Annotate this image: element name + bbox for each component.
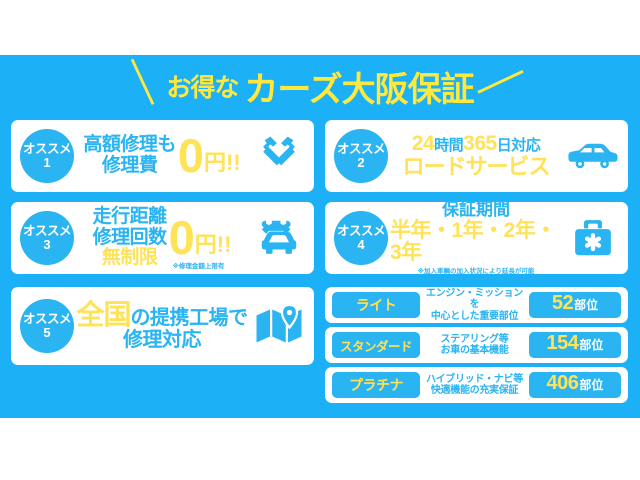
feature-card-3[interactable]: オススメ 3 走行距離 修理回数 無制限 0 円!! ※修理金額上限有 bbox=[11, 202, 314, 274]
crossed-hammers-icon bbox=[250, 133, 308, 179]
plan-count-unit: 部位 bbox=[579, 336, 603, 353]
feature-card-5[interactable]: オススメ 5 全国の提携工場で 修理対応 bbox=[11, 287, 314, 365]
feature-card-1-body: 高額修理も 修理費 0 円!! bbox=[74, 120, 250, 192]
feature-card-4-text: 保証期間 半年・1年・2年・3年 ※加入車輌の加入状況により延長が可能 bbox=[390, 201, 562, 275]
right-slash-decor: ／ bbox=[475, 60, 524, 109]
road-service-label: ロードサービス bbox=[402, 155, 549, 179]
hours-unit: 時間 bbox=[434, 137, 463, 154]
plan-row-light[interactable]: ライト エンジン・ミッションを 中心とした重要部位 52 部位 bbox=[325, 287, 628, 323]
advertisement-canvas: ＼ お得な カーズ大阪保証 ／ オススメ 1 高額修理も 修理費 0 円!! bbox=[0, 0, 640, 480]
headline-main: カーズ大阪保証 bbox=[244, 62, 473, 111]
badge-number: 2 bbox=[357, 156, 364, 169]
toolbox-icon bbox=[564, 217, 622, 259]
plan-count-number: 154 bbox=[547, 332, 579, 355]
days-number: 365 bbox=[463, 132, 497, 155]
feature-card-2-text: 24時間365日対応 ロードサービス bbox=[402, 133, 549, 179]
plan-count-pill: 406 部位 bbox=[529, 372, 621, 398]
feature-line-3: 無制限 bbox=[102, 248, 158, 269]
feature-card-3-text: 走行距離 修理回数 無制限 bbox=[93, 207, 167, 269]
repair-support-line: 修理対応 bbox=[123, 330, 201, 352]
plan-name-pill: ライト bbox=[332, 292, 420, 318]
price-zero-group-3: 0 円!! ※修理金額上限有 bbox=[169, 217, 232, 258]
feature-card-3-body: 走行距離 修理回数 無制限 0 円!! ※修理金額上限有 bbox=[74, 202, 250, 274]
feature-line-1: 走行距離 bbox=[93, 207, 167, 228]
recommend-badge-2: オススメ 2 bbox=[334, 129, 388, 183]
price-amount: 0 bbox=[178, 135, 204, 176]
days-unit: 日対応 bbox=[497, 137, 541, 154]
feature-card-5-body: 全国の提携工場で 修理対応 bbox=[74, 287, 250, 365]
badge-number: 3 bbox=[43, 238, 50, 251]
feature-card-5-text: 全国の提携工場で 修理対応 bbox=[76, 300, 247, 352]
badge-label: オススメ bbox=[337, 225, 385, 238]
badge-label: オススメ bbox=[23, 313, 71, 326]
plan-count-number: 52 bbox=[552, 292, 573, 315]
plan-description: エンジン・ミッションを 中心とした重要部位 bbox=[420, 288, 529, 322]
recommend-badge-3: オススメ 3 bbox=[20, 211, 74, 265]
plan-description: ステアリング等 お車の基本機能 bbox=[420, 334, 529, 356]
plan-desc-line-1: ステアリング等 bbox=[422, 334, 527, 345]
map-pin-icon bbox=[250, 305, 308, 347]
badge-label: オススメ bbox=[23, 225, 71, 238]
hours-number: 24 bbox=[412, 132, 434, 155]
feature-line-1: 高額修理も bbox=[83, 135, 176, 156]
warranty-footnote: ※加入車輌の加入状況により延長が可能 bbox=[418, 268, 535, 275]
plan-name-pill: スタンダード bbox=[332, 332, 420, 358]
plan-desc-line-1: エンジン・ミッションを bbox=[422, 288, 527, 310]
warranty-period-values: 半年・1年・2年・3年 bbox=[390, 220, 562, 265]
plan-row-platinum[interactable]: プラチナ ハイブリッド・ナビ等 快適機能の充実保証 406 部位 bbox=[325, 367, 628, 403]
plan-row-standard[interactable]: スタンダード ステアリング等 お車の基本機能 154 部位 bbox=[325, 327, 628, 363]
feature-card-4[interactable]: オススメ 4 保証期間 半年・1年・2年・3年 ※加入車輌の加入状況により延長が… bbox=[325, 202, 628, 274]
wrench-car-icon bbox=[250, 215, 308, 261]
feature-line-2: 修理回数 bbox=[93, 228, 167, 249]
price-amount: 0 bbox=[169, 217, 195, 258]
car-side-icon bbox=[564, 139, 622, 173]
plan-desc-line-2: 快適機能の充実保証 bbox=[422, 385, 527, 396]
nationwide-highlight: 全国 bbox=[76, 300, 130, 330]
headline-banner: ＼ お得な カーズ大阪保証 ／ bbox=[0, 60, 640, 112]
plan-count-unit: 部位 bbox=[574, 296, 598, 313]
price-footnote: ※修理金額上限有 bbox=[173, 260, 225, 270]
price-zero-group-1: 0 円!! bbox=[178, 135, 241, 176]
recommend-badge-4: オススメ 4 bbox=[334, 211, 388, 265]
plan-name-pill: プラチナ bbox=[332, 372, 420, 398]
left-slash-decor: ＼ bbox=[118, 60, 167, 109]
plan-desc-line-2: 中心とした重要部位 bbox=[422, 311, 527, 322]
plan-count-pill: 154 部位 bbox=[529, 332, 621, 358]
badge-number: 5 bbox=[43, 326, 50, 339]
availability-line: 24時間365日対応 bbox=[412, 133, 540, 156]
badge-number: 4 bbox=[357, 238, 364, 251]
feature-card-4-body: 保証期間 半年・1年・2年・3年 ※加入車輌の加入状況により延長が可能 bbox=[388, 202, 564, 274]
badge-label: オススメ bbox=[23, 143, 71, 156]
feature-card-1-text: 高額修理も 修理費 bbox=[83, 135, 176, 176]
plan-count-number: 406 bbox=[547, 372, 579, 395]
plan-description: ハイブリッド・ナビ等 快適機能の充実保証 bbox=[420, 374, 529, 396]
feature-card-1[interactable]: オススメ 1 高額修理も 修理費 0 円!! bbox=[11, 120, 314, 192]
price-unit: 円!! bbox=[204, 152, 241, 177]
nationwide-rest: の提携工場で bbox=[131, 308, 248, 330]
plan-count-pill: 52 部位 bbox=[529, 292, 621, 318]
nationwide-line: 全国の提携工場で bbox=[76, 300, 247, 330]
recommend-badge-1: オススメ 1 bbox=[20, 129, 74, 183]
warranty-period-heading: 保証期間 bbox=[442, 201, 510, 219]
badge-number: 1 bbox=[43, 156, 50, 169]
headline-prefix: お得な bbox=[166, 68, 238, 104]
price-unit: 円!! bbox=[195, 234, 232, 259]
recommend-badge-5: オススメ 5 bbox=[20, 299, 74, 353]
plan-count-unit: 部位 bbox=[579, 376, 603, 393]
plan-desc-line-1: ハイブリッド・ナビ等 bbox=[422, 374, 527, 385]
badge-label: オススメ bbox=[337, 143, 385, 156]
feature-card-2[interactable]: オススメ 2 24時間365日対応 ロードサービス bbox=[325, 120, 628, 192]
feature-line-2: 修理費 bbox=[102, 156, 158, 177]
plan-desc-line-2: お車の基本機能 bbox=[422, 345, 527, 356]
feature-card-2-body: 24時間365日対応 ロードサービス bbox=[388, 120, 564, 192]
